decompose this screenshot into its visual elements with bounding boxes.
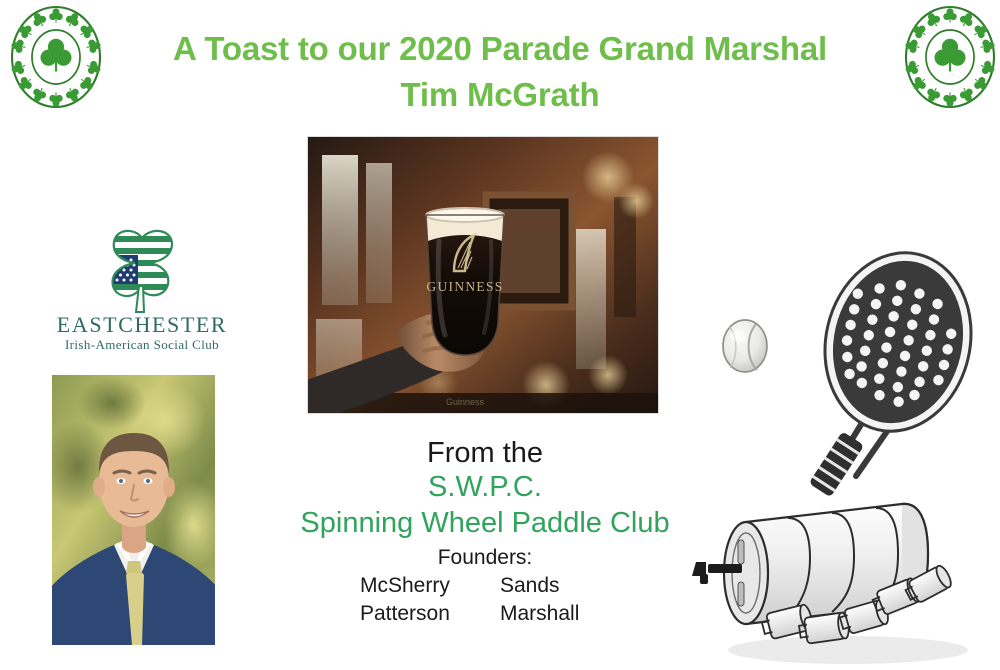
american-flag-shamrock-icon [90, 222, 194, 314]
grand-marshal-portrait-photo [52, 375, 215, 645]
title-line-1: A Toast to our 2020 Parade Grand Marshal [173, 30, 827, 67]
founder-name: Patterson [360, 600, 500, 628]
founders-row: Patterson Marshall [360, 600, 610, 628]
shamrock-ring-emblem-icon [902, 4, 998, 110]
slide-canvas: A Toast to our 2020 Parade Grand Marshal… [0, 0, 1000, 670]
founder-name: Sands [500, 572, 610, 600]
founder-name: Marshall [500, 600, 610, 628]
page-title: A Toast to our 2020 Parade Grand Marshal… [110, 26, 890, 117]
svg-text:Guinness: Guinness [446, 397, 485, 407]
paddle-racket-icon [700, 250, 1000, 500]
from-the-label: From the [255, 436, 715, 470]
guinness-wordmark: GUINNESS [426, 279, 503, 294]
founders-list: McSherry Sands Patterson Marshall [360, 572, 610, 629]
club-name: EASTCHESTER [44, 314, 240, 336]
club-abbreviation: S.W.P.C. [255, 470, 715, 505]
founder-name: McSherry [360, 572, 500, 600]
founders-label: Founders: [255, 545, 715, 572]
guinness-pint-photo: GUINNESS Guinness [308, 137, 658, 413]
beer-keg-with-mugs-icon [680, 478, 1000, 670]
caption-block: From the S.W.P.C. Spinning Wheel Paddle … [255, 436, 715, 629]
title-line-2: Tim McGrath [110, 72, 890, 118]
club-tagline: Irish-American Social Club [44, 338, 240, 351]
club-full-name: Spinning Wheel Paddle Club [255, 506, 715, 541]
founders-row: McSherry Sands [360, 572, 610, 600]
shamrock-ring-emblem-icon [8, 4, 104, 110]
eastchester-club-logo: EASTCHESTER Irish-American Social Club [44, 222, 240, 354]
